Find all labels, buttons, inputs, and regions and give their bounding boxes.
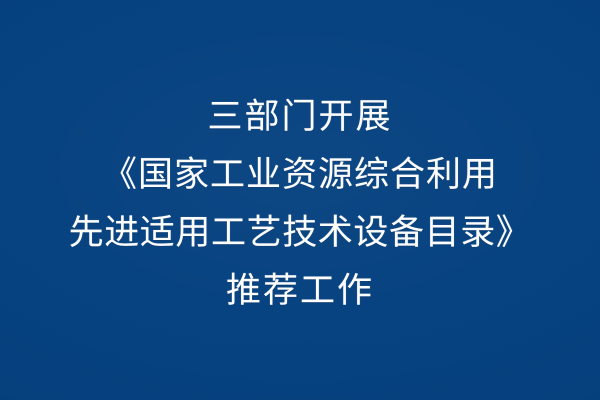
- title-line-3: 先进适用工艺技术设备目录》: [0, 204, 600, 262]
- title-block: 三部门开展 《国家工业资源综合利用 先进适用工艺技术设备目录》 推荐工作: [0, 88, 600, 320]
- title-line-1: 三部门开展: [0, 88, 600, 146]
- title-line-2: 《国家工业资源综合利用: [0, 146, 600, 204]
- news-title-banner: 三部门开展 《国家工业资源综合利用 先进适用工艺技术设备目录》 推荐工作: [0, 0, 600, 400]
- title-line-4: 推荐工作: [0, 262, 600, 320]
